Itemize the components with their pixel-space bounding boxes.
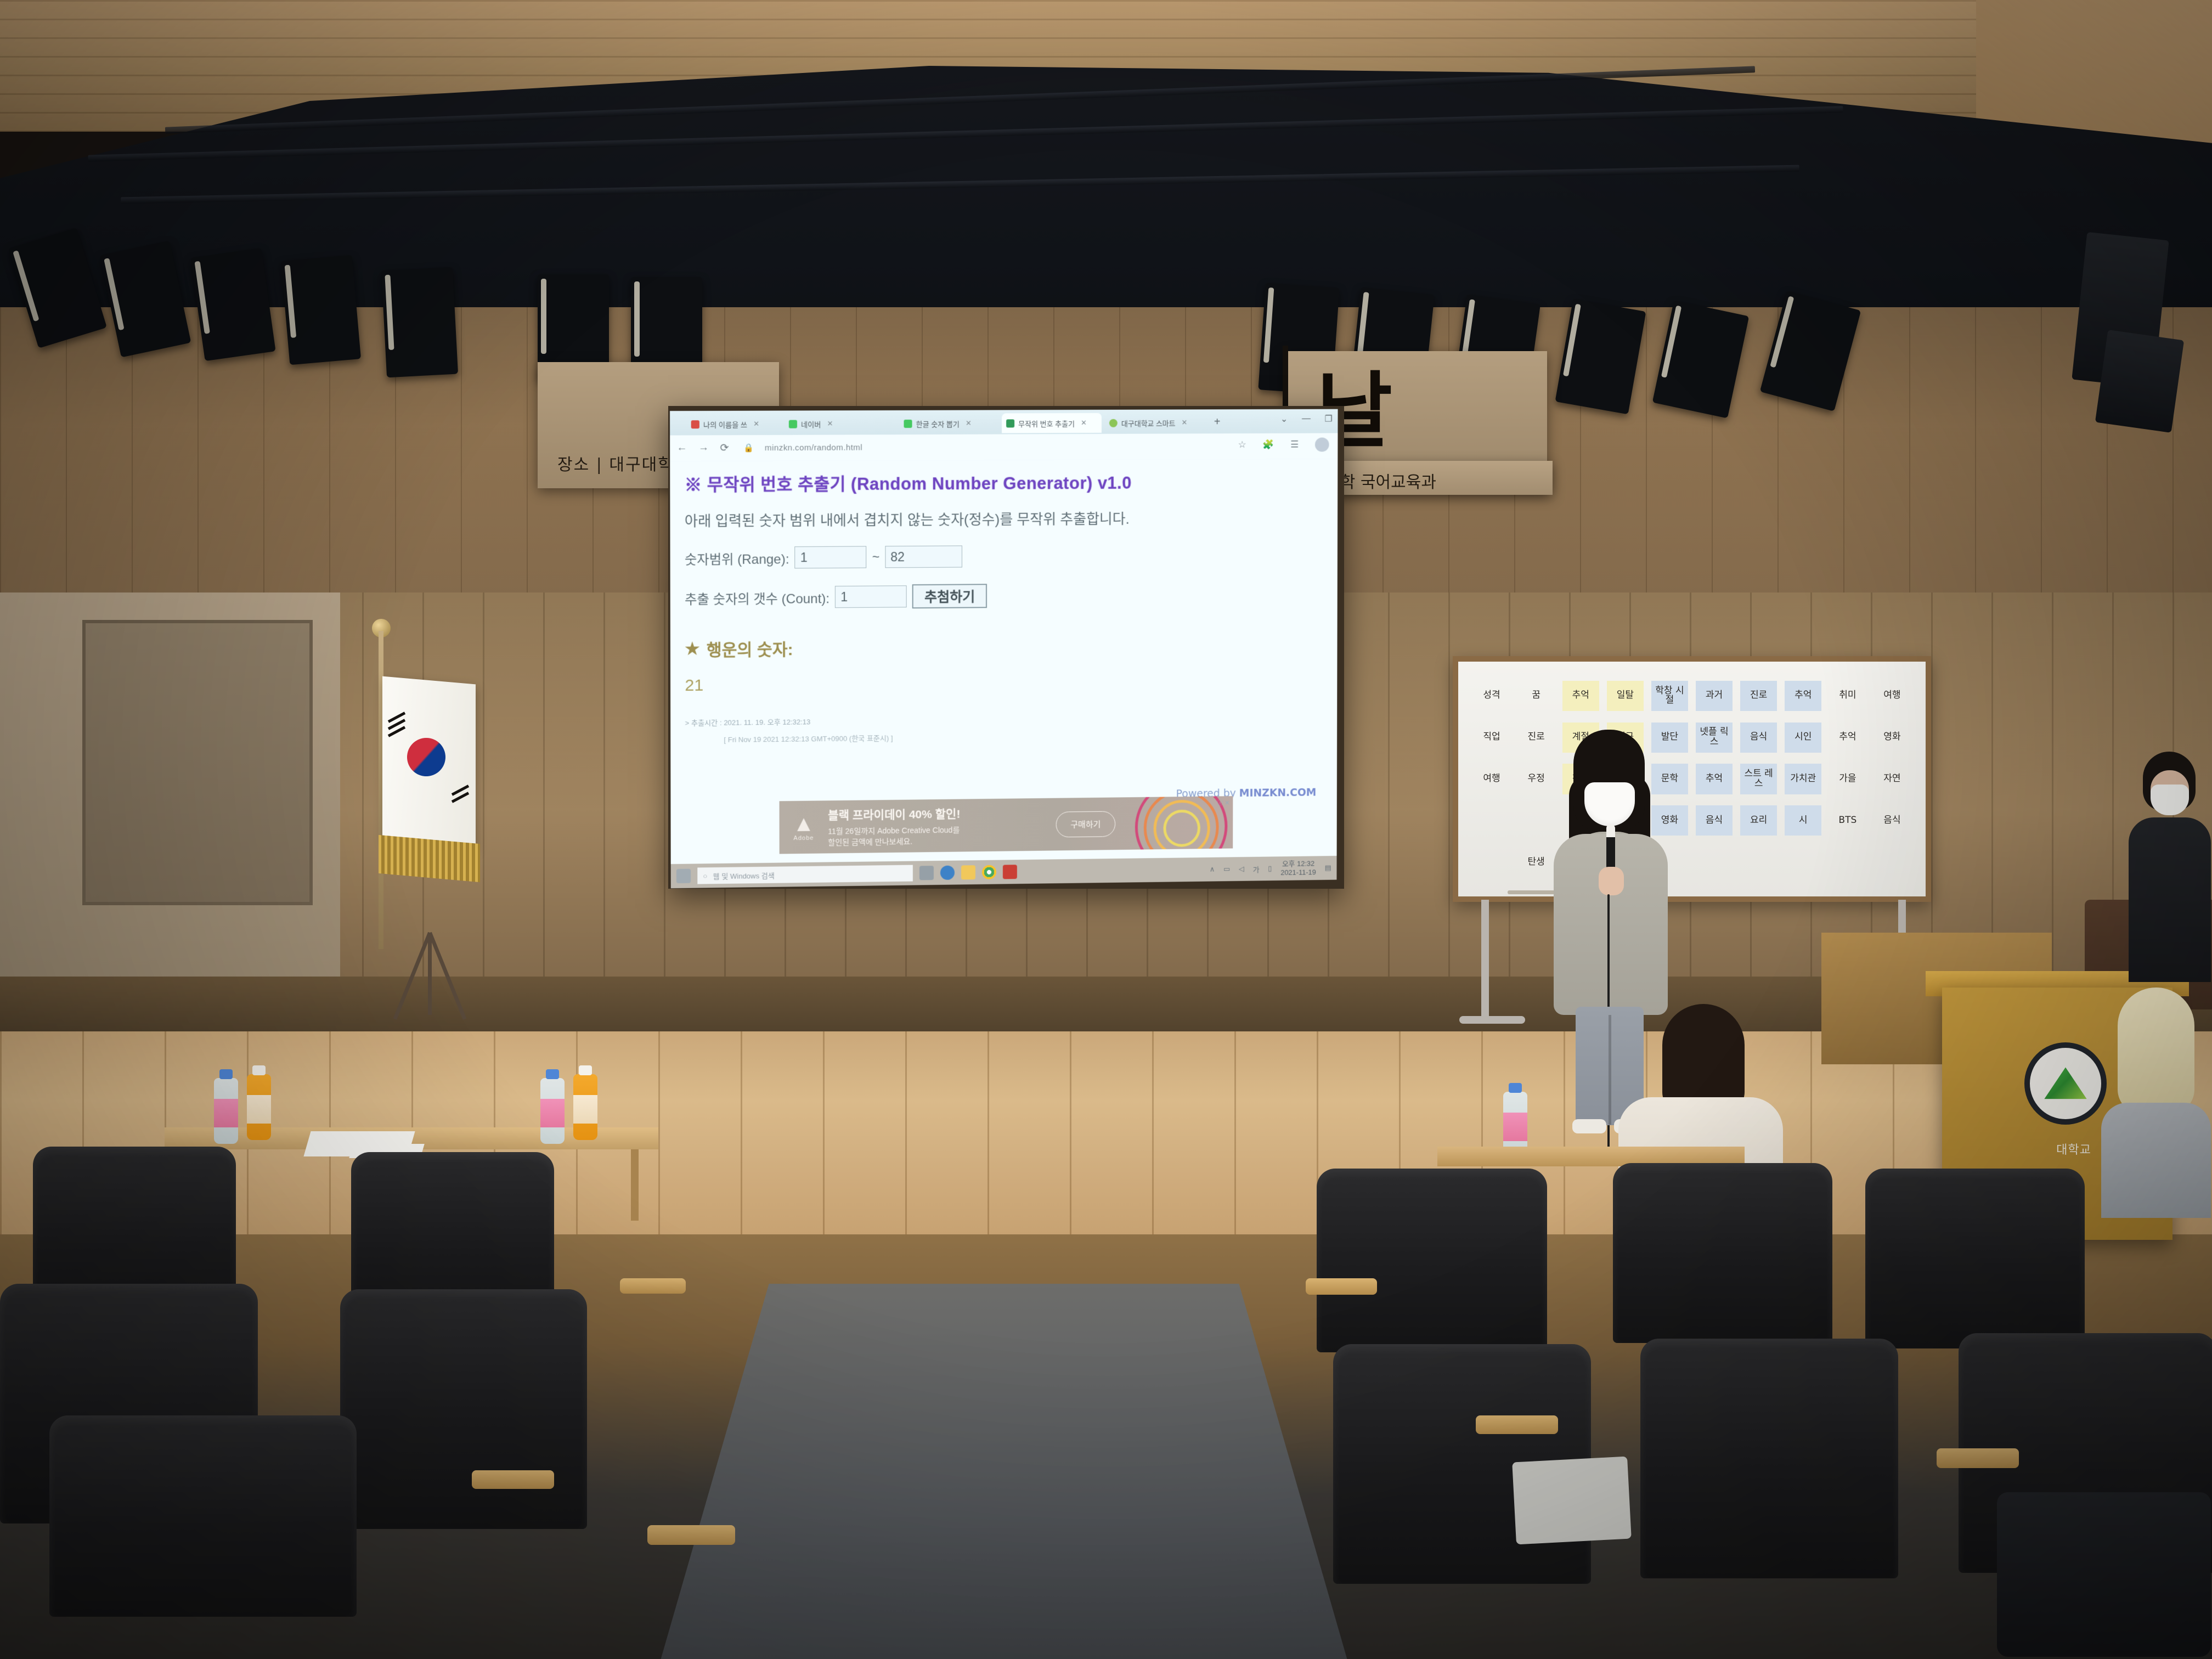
whiteboard-card: 요리 [1740, 805, 1777, 836]
whiteboard-card-empty [1696, 847, 1733, 877]
tab-title: 나의 이름을 쓰 [703, 419, 747, 429]
whiteboard-card: 진로 [1740, 681, 1777, 711]
count-row: 추출 숫자의 갯수 (Count): 1 추첨하기 [685, 582, 1323, 610]
tab-search-chevron-down-icon[interactable]: ⌄ [1280, 414, 1288, 425]
tab-title: 무작위 번호 추출기 [1018, 418, 1075, 428]
attendee-jacket [2101, 1103, 2211, 1218]
new-tab-button[interactable]: + [1214, 416, 1221, 428]
result-value: 21 [685, 671, 1323, 695]
adobe-logo: ▲ Adobe [780, 812, 828, 842]
whiteboard-card-empty [1874, 847, 1910, 877]
whiteboard-surface: 성격꿈추억일탈학창 시절과거진로추억취미여행직업진로계절대구발단넷플 릭스음식시… [1458, 662, 1926, 896]
browser-tab[interactable]: 네이버 ✕ [785, 414, 895, 434]
whiteboard-frame: 성격꿈추억일탈학창 시절과거진로추억취미여행직업진로계절대구발단넷플 릭스음식시… [1453, 656, 1931, 902]
tab-close-icon[interactable]: ✕ [827, 419, 833, 428]
taskbar-clock[interactable]: 오후 12:32 2021-11-19 [1280, 859, 1316, 877]
whiteboard-card: 취미 [1829, 681, 1866, 711]
bottle-label [214, 1099, 238, 1127]
file-explorer-icon[interactable] [961, 865, 975, 879]
water-bottle [214, 1078, 238, 1144]
tab-favicon-icon [789, 420, 797, 428]
range-min-input[interactable]: 1 [795, 546, 867, 568]
volume-icon[interactable]: ◁ [1239, 865, 1244, 873]
water-bottle [540, 1078, 565, 1144]
network-icon[interactable]: ▭ [1223, 865, 1230, 873]
tab-title: 네이버 [801, 419, 821, 429]
adobe-triangle-icon: ▲ [780, 812, 828, 835]
whiteboard-card-grid: 성격꿈추억일탈학창 시절과거진로추억취미여행직업진로계절대구발단넷플 릭스음식시… [1470, 676, 1914, 882]
ceiling-speaker [2095, 330, 2184, 433]
ad-headline: 블랙 프라이데이 40% 할인! [828, 804, 1056, 823]
attendee-blonde-right [2096, 988, 2211, 1218]
whiteboard-card: 영화 [1874, 723, 1910, 753]
face-mask-icon [2151, 785, 2189, 815]
whiteboard-card: 가치관 [1785, 764, 1821, 794]
daegu-university-seal [2024, 1042, 2107, 1125]
stage-left-wall-inset [82, 620, 313, 905]
extensions-puzzle-icon[interactable]: 🧩 [1263, 439, 1274, 450]
ime-icon[interactable]: 가 [1253, 864, 1260, 874]
bottle-cap [546, 1069, 559, 1079]
seat-armrest [647, 1525, 735, 1545]
internet-explorer-icon[interactable] [940, 866, 955, 880]
ad-copy: 블랙 프라이데이 40% 할인! 11월 26일까지 Adobe Creativ… [828, 804, 1056, 848]
ad-close-icon[interactable]: ⓘ ✕ [1217, 798, 1229, 807]
seat-armrest [1306, 1278, 1377, 1295]
result-heading: ★ 행운의 숫자: [685, 632, 1323, 661]
tab-favicon-icon [904, 419, 912, 427]
whiteboard-card: 여행 [1473, 764, 1510, 794]
stage-spotlight [381, 267, 458, 378]
reading-list-icon[interactable]: ☰ [1290, 439, 1299, 450]
whiteboard-card: 직업 [1473, 723, 1510, 753]
auditorium-photo-scene: 장소 | 대구대학 날 사범대학 국어교육과 나의 이름을 쓰 ✕ 네이버 ✕ … [0, 0, 2212, 1659]
presenter-leg-seam [1609, 1015, 1611, 1125]
pdf-reader-icon[interactable] [1003, 865, 1017, 879]
whiteboard-card: 음식 [1696, 805, 1733, 836]
tab-close-icon[interactable]: ✕ [753, 420, 759, 428]
seat-armrest [1476, 1415, 1558, 1434]
page-title: ※ 무작위 번호 추출기 (Random Number Generator) v… [685, 468, 1324, 495]
star-icon: ★ [685, 639, 699, 658]
whiteboard-card: 시인 [1785, 723, 1821, 753]
address-bar-url[interactable]: minzkn.com/random.html [765, 443, 862, 453]
tab-close-icon[interactable]: ✕ [966, 419, 972, 428]
projection-screen: 나의 이름을 쓰 ✕ 네이버 ✕ 한글 숫자 뽑기 ✕ 무작위 번호 추출기 ✕… [670, 409, 1338, 889]
browser-toolbar-icons: ☆ 🧩 ☰ [1238, 437, 1329, 452]
tab-title: 한글 숫자 뽑기 [916, 418, 960, 428]
show-hidden-icons[interactable]: ∧ [1210, 865, 1215, 874]
result-label: 행운의 숫자: [707, 636, 793, 661]
whiteboard-card-empty [1473, 847, 1510, 877]
seat-row3-left[interactable] [49, 1415, 357, 1659]
whiteboard-card: 과거 [1696, 681, 1733, 711]
tab-favicon-icon [1006, 419, 1014, 427]
system-tray: ∧ ▭ ◁ 가 ▯ 오후 12:32 2021-11-19 ▤ [1210, 859, 1331, 878]
flag-tripod-stand [362, 933, 505, 1020]
tab-title: 대구대학교 스마트 [1121, 417, 1176, 428]
bottle-cap [579, 1065, 592, 1075]
whiteboard-card: BTS [1829, 805, 1866, 836]
venue-banner-left-text: 장소 | 대구대학 [557, 451, 674, 475]
minimize-icon[interactable]: — [1302, 414, 1311, 424]
stage-spotlight [190, 248, 275, 361]
stage-spotlight [281, 255, 361, 365]
range-row: 숫자범위 (Range): 1 ~ 82 [685, 544, 1323, 569]
whiteboard-card: 가을 [1829, 764, 1866, 794]
bottle-cap [252, 1065, 266, 1075]
bookmark-star-icon[interactable]: ☆ [1238, 439, 1246, 450]
juice-bottle [573, 1074, 597, 1140]
whiteboard-card: 스트 레스 [1740, 764, 1777, 794]
whiteboard-card: 학창 시절 [1651, 681, 1688, 711]
tab-favicon-icon [1109, 419, 1118, 427]
bottle-cap [1509, 1083, 1522, 1093]
tab-close-icon[interactable]: ✕ [1182, 418, 1188, 427]
juice-bottle [247, 1074, 271, 1140]
range-max-input[interactable]: 82 [885, 545, 962, 568]
whiteboard-card: 음식 [1740, 723, 1777, 753]
whiteboard-card: 추억 [1696, 764, 1733, 794]
browser-tab[interactable]: 대구대학교 스마트 ✕ [1105, 413, 1206, 433]
backpack-on-seat [1997, 1492, 2211, 1657]
reload-icon[interactable]: ⟳ [720, 442, 729, 454]
university-logo-icon [2042, 1066, 2089, 1101]
whiteboard-card: 성격 [1473, 681, 1510, 711]
task-view-icon[interactable] [919, 866, 934, 880]
front-table-leg [631, 1149, 639, 1221]
count-input[interactable]: 1 [835, 585, 907, 608]
action-center-icon[interactable]: ▤ [1325, 864, 1331, 872]
seat-armrest [1937, 1448, 2019, 1468]
window-controls: ⌄ — ❐ [1280, 414, 1333, 425]
clock-date: 2021-11-19 [1280, 868, 1316, 877]
whiteboard-card: 일탈 [1607, 681, 1644, 711]
random-number-generator-page: ※ 무작위 번호 추출기 (Random Number Generator) v… [670, 459, 1338, 888]
battery-icon[interactable]: ▯ [1268, 864, 1272, 873]
range-label: 숫자범위 (Range): [685, 548, 789, 568]
back-icon[interactable]: ← [676, 442, 687, 454]
attendee-standing-right [2129, 752, 2211, 982]
tab-favicon-icon [691, 420, 699, 428]
whiteboard-card: 음식 [1874, 805, 1910, 836]
range-separator: ~ [872, 550, 880, 565]
seat-armrest [472, 1470, 554, 1489]
attendee-coat [2129, 817, 2211, 982]
bottle-label [1503, 1113, 1527, 1141]
paper-on-seat [1512, 1457, 1632, 1545]
whiteboard-card: 시 [1785, 805, 1821, 836]
taskbar-search-input[interactable]: ○ 웹 및 Windows 검색 [697, 865, 913, 884]
page-description: 아래 입력된 숫자 범위 내에서 겹치지 않는 숫자(정수)를 무작위 추출합니… [685, 507, 1324, 531]
seat-armrest [620, 1278, 686, 1294]
result-timestamp-utc: [ Fri Nov 19 2021 12:32:13 GMT+0900 (한국 … [724, 728, 1323, 744]
browser-tab[interactable]: 한글 숫자 뽑기 ✕ [899, 413, 998, 433]
draw-button[interactable]: 추첨하기 [912, 584, 987, 608]
whiteboard-card-empty [1829, 847, 1866, 877]
forward-icon[interactable]: → [698, 442, 709, 454]
whiteboard-card-empty [1785, 847, 1821, 877]
bottle-label [247, 1095, 271, 1124]
whiteboard-card: 추억 [1785, 681, 1821, 711]
whiteboard-card: 자연 [1874, 764, 1910, 794]
count-label: 추출 숫자의 갯수 (Count): [685, 588, 830, 608]
browser-tab-strip: 나의 이름을 쓰 ✕ 네이버 ✕ 한글 숫자 뽑기 ✕ 무작위 번호 추출기 ✕… [670, 409, 1338, 436]
windows-start-icon[interactable] [676, 869, 691, 883]
bottle-label [540, 1099, 565, 1127]
whiteboard-card: 넷플 릭스 [1696, 723, 1733, 753]
attendee-hair [2118, 988, 2194, 1114]
bottle-cap [219, 1069, 233, 1079]
whiteboard-card-empty [1740, 847, 1777, 877]
powered-brand: MINZKN.COM [1239, 787, 1317, 799]
whiteboard-card: 추억 [1829, 723, 1866, 753]
whiteboard-card: 여행 [1874, 681, 1910, 711]
presenter-hand [1599, 867, 1624, 895]
ad-line-3: 할인된 금액에 만나보세요. [828, 834, 1056, 848]
result-timestamp-local: > 추출시간 : 2021. 11. 19. 오후 12:32:13 [685, 712, 1323, 728]
whiteboard-card-empty [1473, 805, 1510, 836]
seat-row2-mid[interactable] [340, 1289, 587, 1596]
whiteboard-card: 추억 [1562, 681, 1599, 711]
whiteboard-card: 꿈 [1518, 681, 1555, 711]
adobe-wordmark: Adobe [780, 834, 828, 842]
profile-avatar[interactable] [1315, 437, 1329, 452]
browser-tab-active[interactable]: 무작위 번호 추출기 ✕ [1002, 413, 1102, 433]
search-icon: ○ [703, 872, 707, 880]
aisle-carpet [658, 1284, 1350, 1659]
tab-close-icon[interactable]: ✕ [1081, 419, 1087, 427]
presenter-shoe [1572, 1119, 1606, 1133]
adobe-advertisement[interactable]: ▲ Adobe 블랙 프라이데이 40% 할인! 11월 26일까지 Adobe… [780, 796, 1233, 854]
chrome-icon[interactable] [982, 865, 996, 879]
lock-icon: 🔒 [743, 443, 754, 453]
clock-time: 오후 12:32 [1280, 859, 1316, 868]
bottle-label [573, 1095, 597, 1124]
search-placeholder: 웹 및 Windows 검색 [713, 870, 774, 881]
browser-tab[interactable]: 나의 이름을 쓰 ✕ [687, 414, 780, 435]
ad-cta-button[interactable]: 구매하기 [1056, 811, 1115, 837]
maximize-icon[interactable]: ❐ [1324, 414, 1332, 425]
seat-right-mid2[interactable] [1640, 1339, 1898, 1646]
